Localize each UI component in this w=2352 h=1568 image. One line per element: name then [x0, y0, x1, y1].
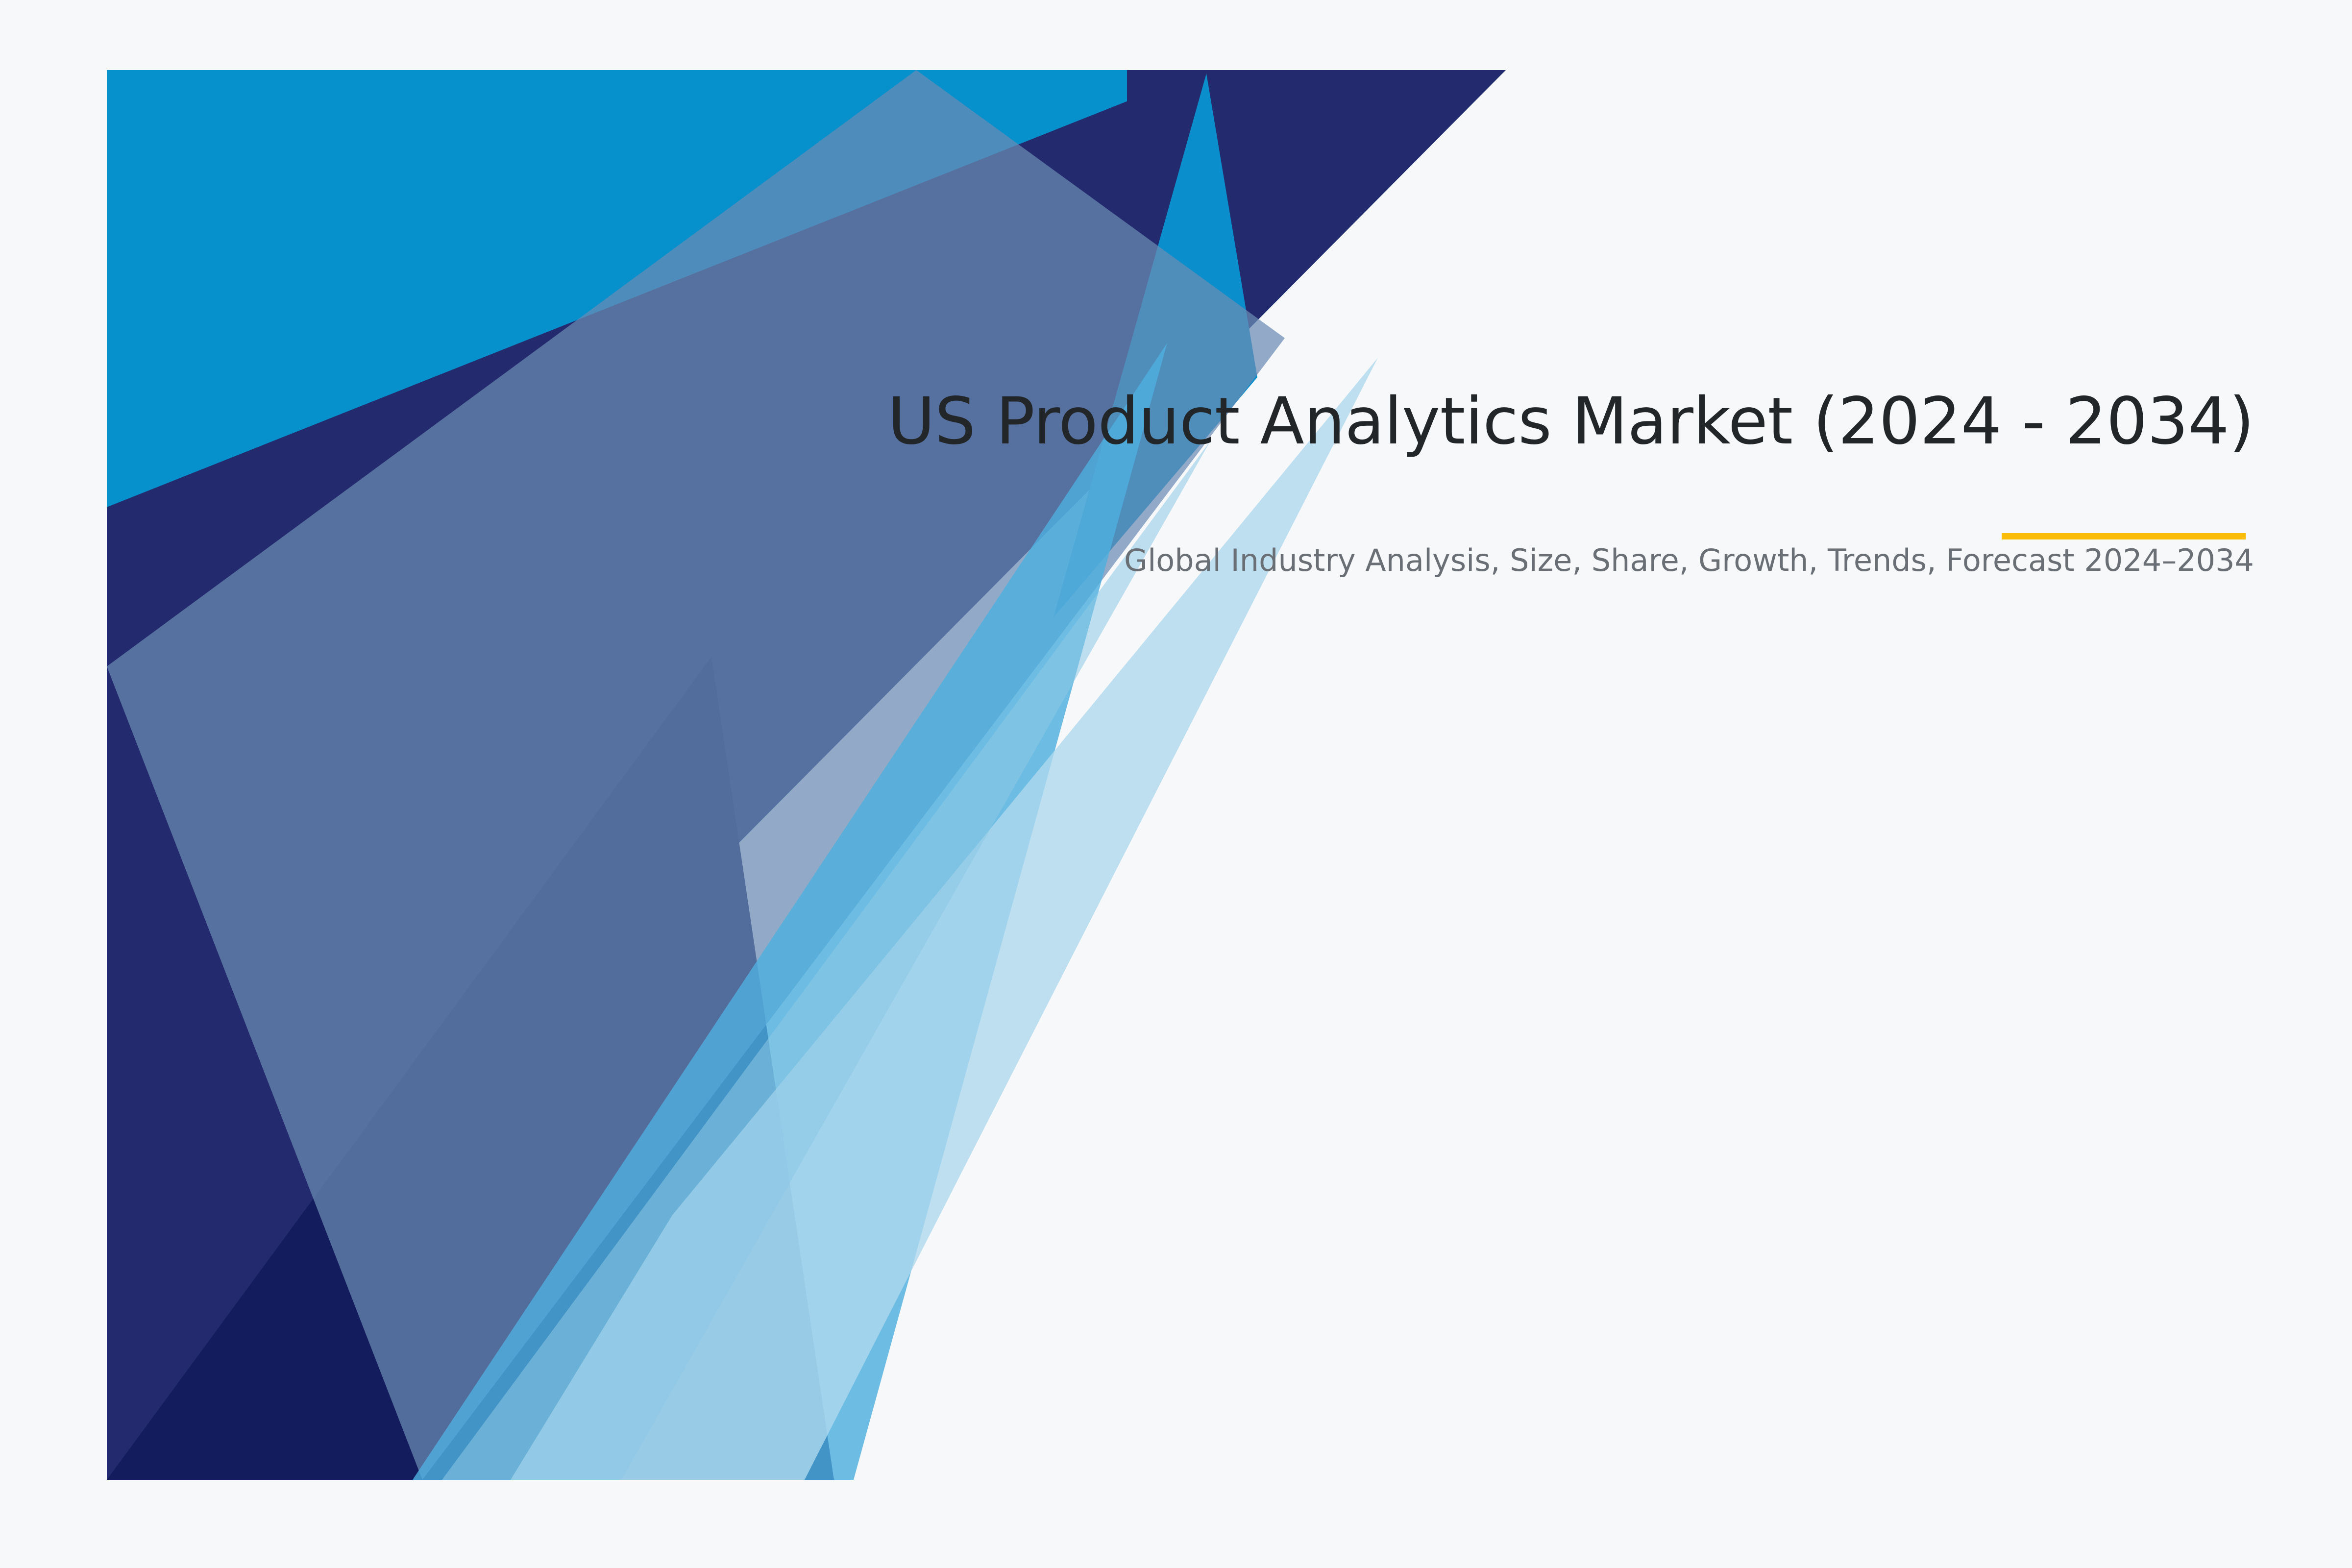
page-subtitle: Global Industry Analysis, Size, Share, G…	[833, 471, 2254, 581]
deep-navy-lower-blade	[107, 657, 834, 1480]
hero-text-block: US Product Analytics Market (2024 - 2034…	[833, 372, 2254, 581]
cover-artwork	[0, 0, 2352, 1568]
cover-slide: US Product Analytics Market (2024 - 2034…	[0, 0, 2352, 1568]
slate-translucent-quad	[107, 70, 1285, 1480]
cyan-top-left-field	[107, 70, 1506, 1480]
yellow-accent-underline	[2002, 533, 2246, 539]
light-blue-inner-vee	[442, 441, 1210, 1480]
artwork-svg	[0, 0, 2352, 1568]
title-wrapper: US Product Analytics Market (2024 - 2034…	[833, 372, 2254, 471]
page-title: US Product Analytics Market (2024 - 2034…	[833, 372, 2254, 471]
navy-top-right-triangle	[1127, 70, 1506, 372]
navy-upper-wedge	[107, 70, 1506, 1480]
